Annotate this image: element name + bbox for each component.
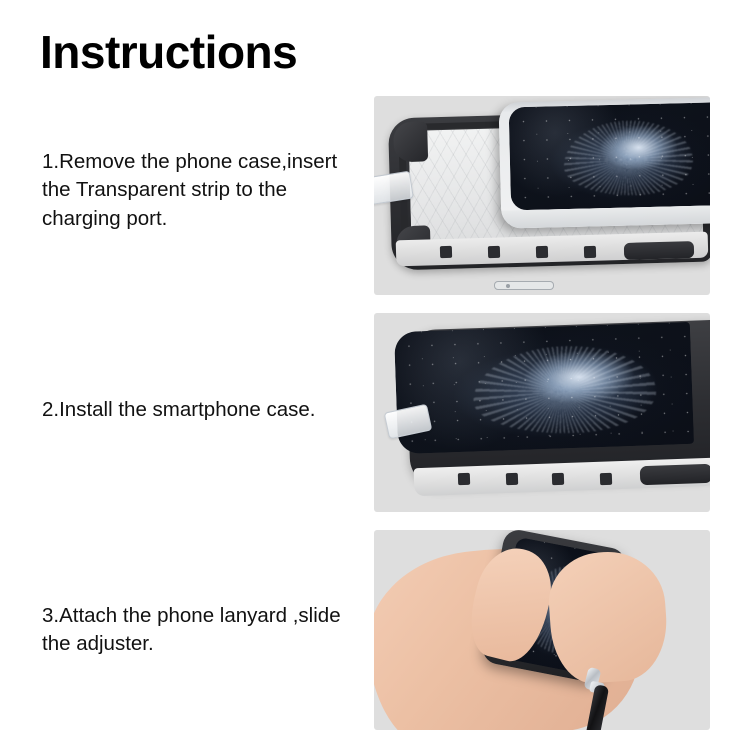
step-2-text: 2.Install the smartphone case. <box>42 396 362 424</box>
fingers <box>546 548 671 686</box>
step-1-text: 1.Remove the phone case,insert the Trans… <box>42 148 362 233</box>
case-edge-tab <box>506 473 518 485</box>
step-1-image-panel <box>374 96 710 295</box>
hand-holding-phone-scene <box>374 530 710 730</box>
case-edge-tab <box>584 246 596 258</box>
case-side-button-bar <box>640 464 710 486</box>
port-dot <box>506 284 510 288</box>
case-edge-tab <box>488 246 500 258</box>
smartphone-body <box>498 97 710 228</box>
phone-screen <box>509 102 710 210</box>
step-3-image-panel <box>374 530 710 730</box>
wave-wallpaper <box>394 322 694 454</box>
case-edge-tab <box>440 246 452 258</box>
instructions-page: Instructions 1.Remove the phone case,ins… <box>0 0 750 750</box>
case-corner-bumper-top-left <box>393 121 428 162</box>
case-edge-tab <box>536 246 548 258</box>
wave-wallpaper <box>509 102 710 210</box>
installed-case-scene <box>374 313 710 512</box>
case-edge-tab <box>600 473 612 485</box>
case-edge-tab <box>458 473 470 485</box>
phone-screen <box>394 322 694 454</box>
page-title: Instructions <box>40 28 297 76</box>
charging-port-cutout <box>494 281 554 290</box>
case-side-button-bar <box>624 241 694 260</box>
case-edge-tab <box>552 473 564 485</box>
step-3-text: 3.Attach the phone lanyard ,slide the ad… <box>42 602 362 659</box>
step-2-image-panel <box>374 313 710 512</box>
open-case-scene <box>374 96 710 295</box>
